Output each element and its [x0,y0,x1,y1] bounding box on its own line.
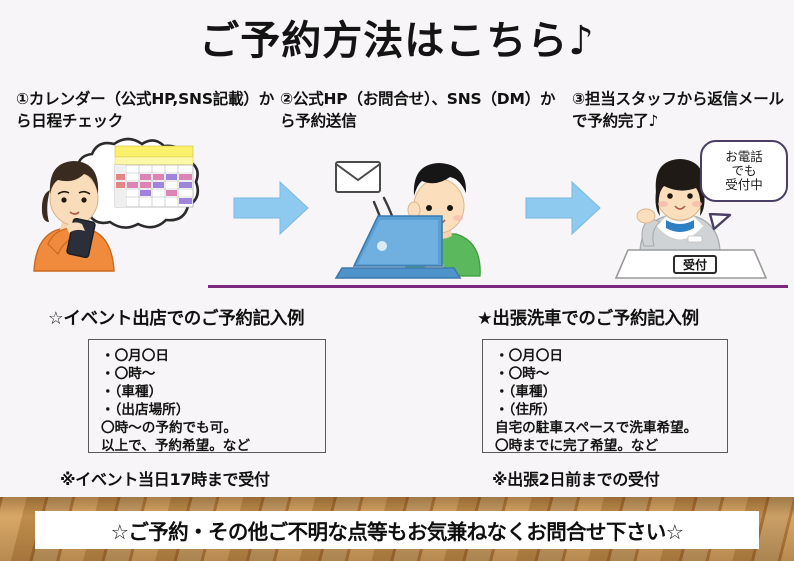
example-left-note: ※イベント当日17時まで受付 [60,466,270,490]
example-left-line: 〇時～の予約でも可。 [101,419,315,437]
infographic-canvas: ご予約方法はこちら♪ ①カレンダー（公式HP,SNS記載）から日程チェック ②公… [0,0,794,561]
section-divider [208,285,788,288]
footer-banner-text: ☆ご予約・その他ご不明な点等もお気兼ねなくお問合せ下さい☆ [111,515,684,545]
arrow-step2-to-step3-icon [524,178,602,238]
example-left-line: 以上で、予約希望。など [101,437,315,455]
step-2-illustration [322,148,518,280]
example-right-line: 〇時までに完了希望。など [495,437,717,455]
footer-banner: ☆ご予約・その他ご不明な点等もお気兼ねなくお問合せ下さい☆ [35,511,759,549]
reception-desk: 受付 [616,250,766,278]
example-left-line: ・（出店場所） [101,401,315,419]
example-right-heading: ★出張洗車でのご予約記入例 [477,305,699,330]
example-left-line: ・〇時～ [101,365,315,383]
example-right-line: ・（住所） [495,401,717,419]
example-right-note: ※出張2日前までの受付 [492,466,659,490]
bubble-line-2: でも [731,164,756,178]
arrow-step1-to-step2-icon [232,178,310,238]
example-left-box: ・〇月〇日 ・〇時～ ・（車種） ・（出店場所） 〇時～の予約でも可。 以上で、… [88,339,326,453]
name-badge [688,236,702,242]
example-left-heading: ☆イベント出店でのご予約記入例 [48,305,304,330]
step-1-illustration [14,132,224,277]
bubble-line-3: 受付中 [725,178,763,192]
calendar-icon [115,146,193,207]
envelope-icon [336,162,380,192]
bubble-line-1: お電話 [725,150,763,164]
example-left-line: ・（車種） [101,383,315,401]
laptop-icon [336,216,460,278]
step-2-heading: ②公式HP（お問合せ）、SNS（DM）から予約送信 [280,88,570,133]
reception-sign-label: 受付 [683,257,707,272]
step-1-heading: ①カレンダー（公式HP,SNS記載）から日程チェック [16,88,276,133]
example-left-line: ・〇月〇日 [101,347,315,365]
example-right-line: 自宅の駐車スペースで洗車希望。 [495,419,717,437]
example-right-box: ・〇月〇日 ・〇時～ ・（車種） ・（住所） 自宅の駐車スペースで洗車希望。 〇… [482,339,728,453]
step-3-heading: ③担当スタッフから返信メールで予約完了♪ [572,88,792,133]
example-right-line: ・（車種） [495,383,717,401]
page-title: ご予約方法はこちら♪ [0,8,794,66]
example-right-line: ・〇時～ [495,365,717,383]
example-right-line: ・〇月〇日 [495,347,717,365]
phone-reception-speech-bubble: お電話 でも 受付中 [700,140,788,202]
